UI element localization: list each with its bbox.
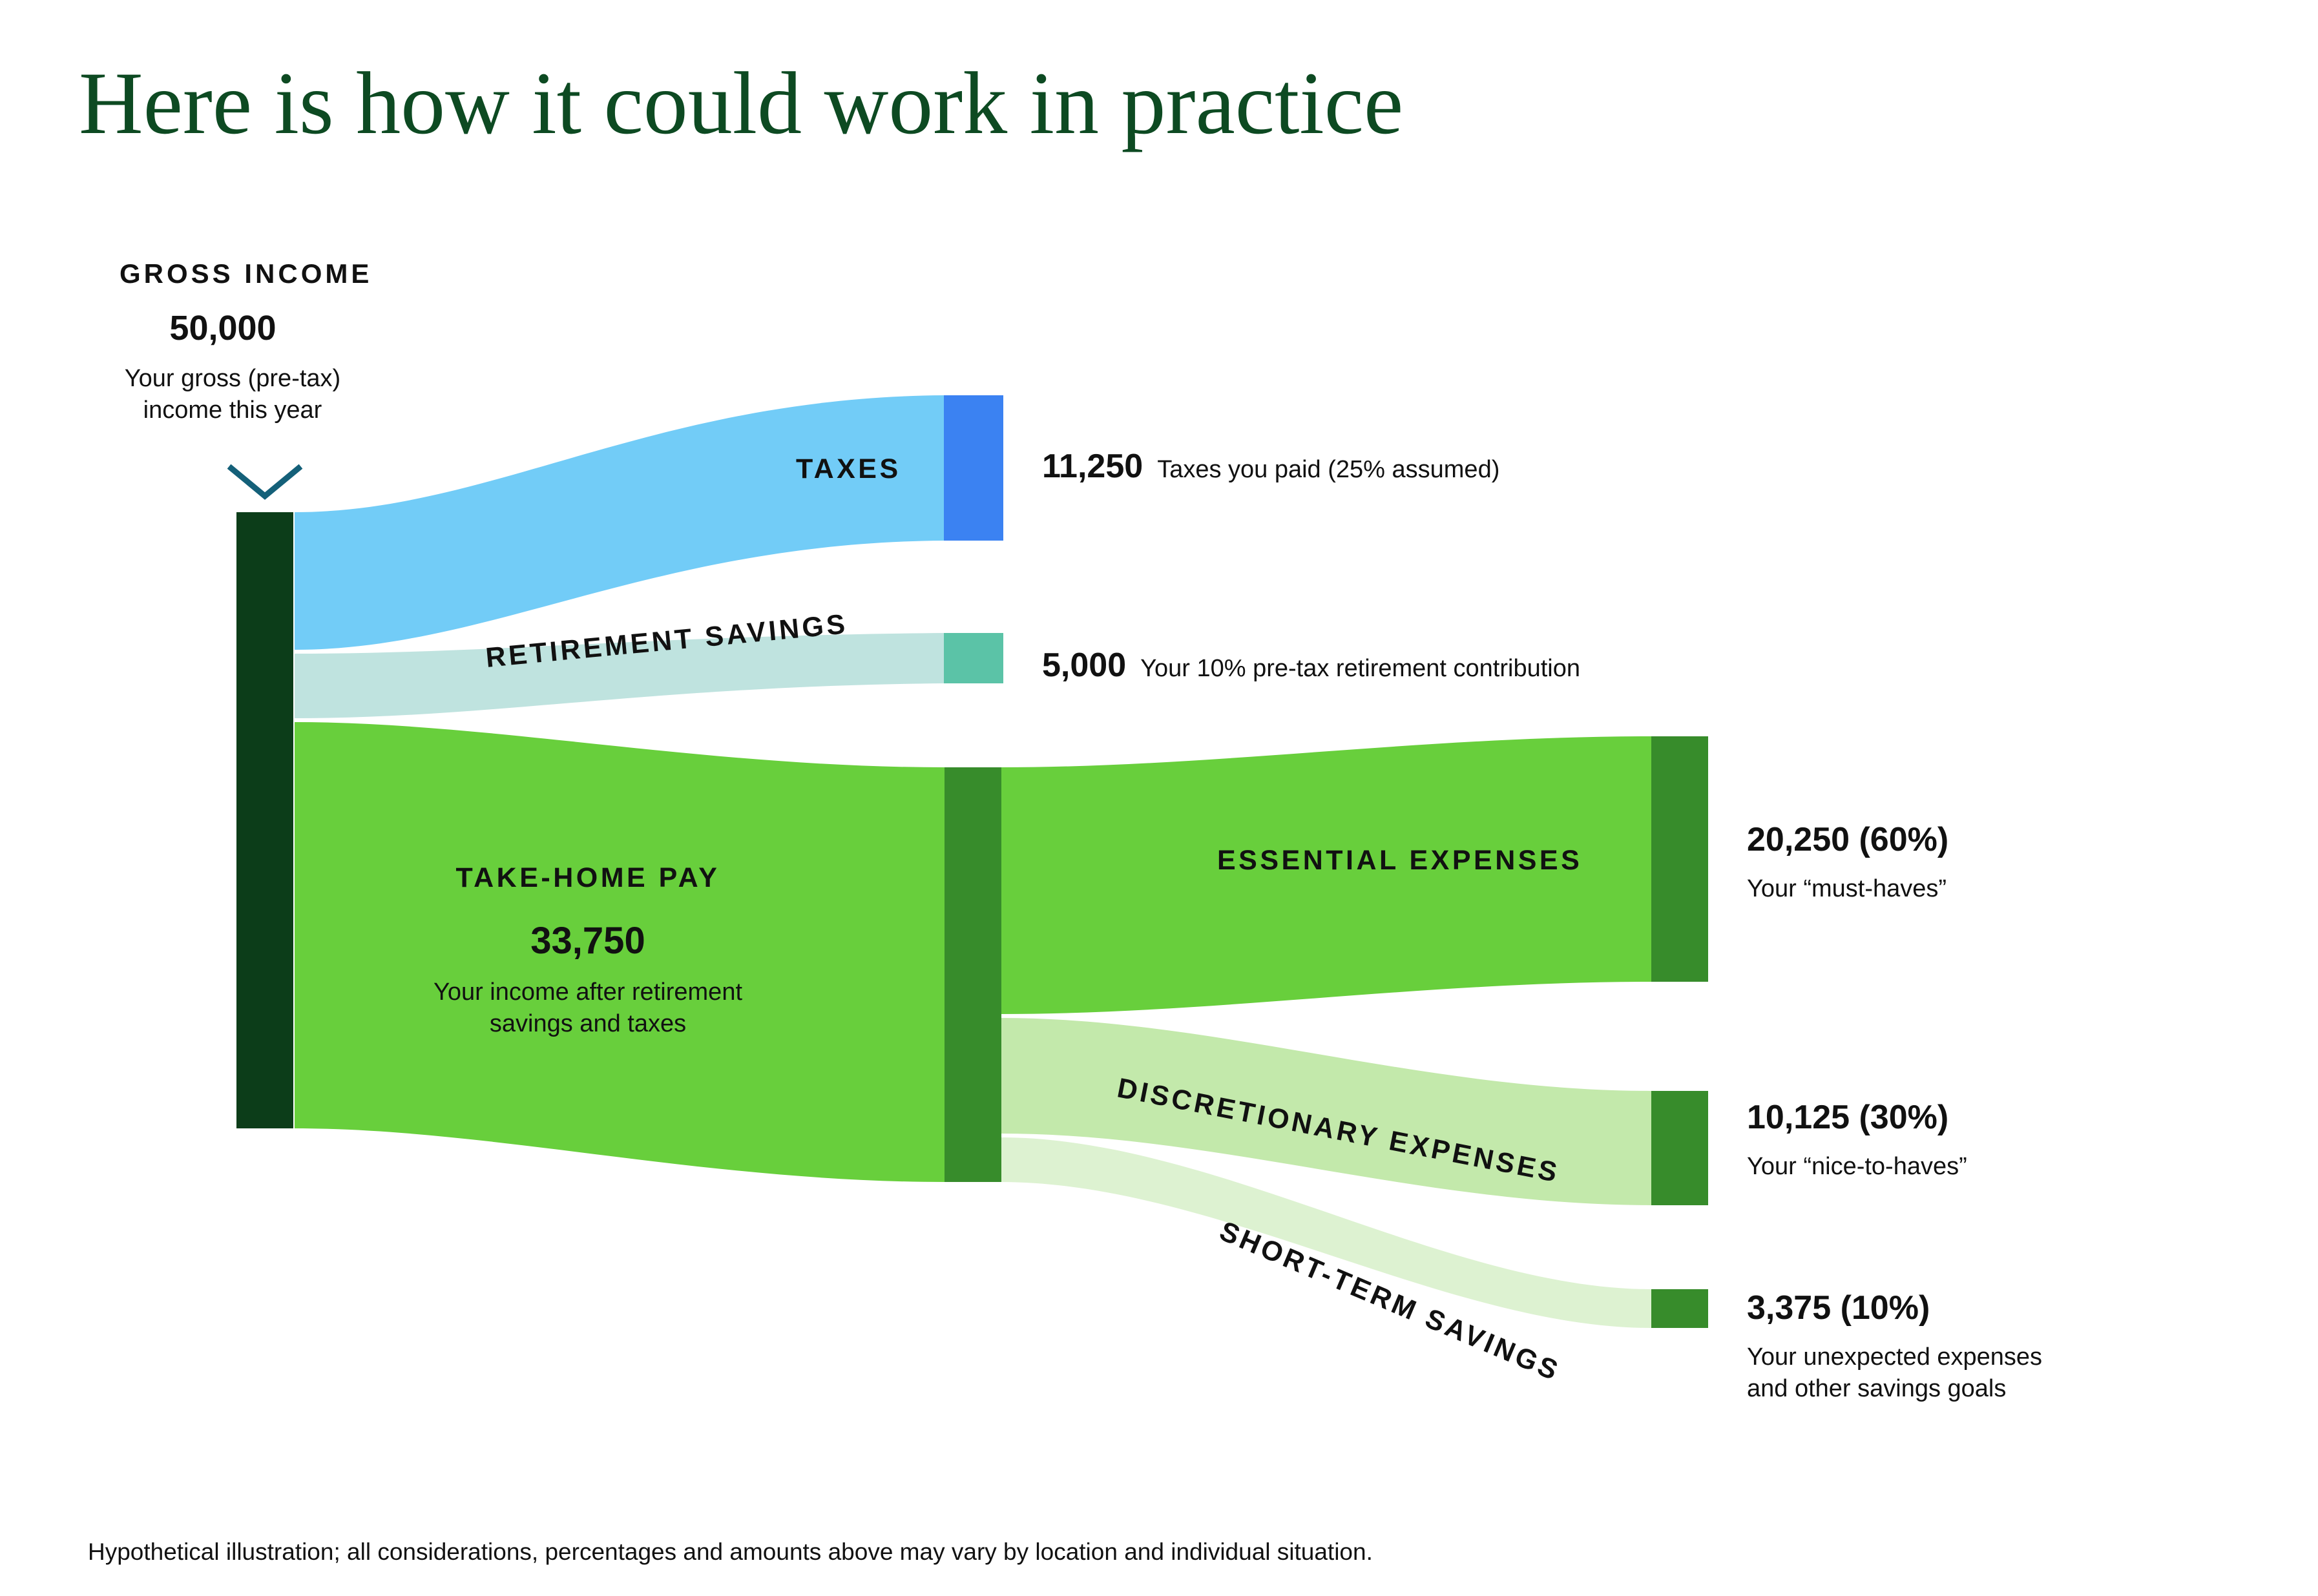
infographic-page: Here is how it could work in practice GR… <box>0 0 2318 1596</box>
flow-label-taxes: TAXES <box>796 453 901 485</box>
essential-expenses-description: Your “must-haves” <box>1747 873 1948 905</box>
gross-income-eyebrow: GROSS INCOME <box>120 258 372 289</box>
node-bar-discretionary-expenses <box>1651 1091 1708 1205</box>
take-home-pay-label: TAKE-HOME PAY <box>329 862 846 894</box>
flow-label-essential-expenses: ESSENTIAL EXPENSES <box>1217 845 1582 876</box>
short-term-savings-description-line2: and other savings goals <box>1747 1373 2042 1405</box>
node-bar-short-term-savings <box>1651 1289 1708 1328</box>
taxes-description: Taxes you paid (25% assumed) <box>1157 454 1499 486</box>
node-bar-gross-income <box>236 512 293 1128</box>
gross-income-amount: 50,000 <box>120 308 326 348</box>
retirement-savings-amount: 5,000 <box>1042 646 1126 685</box>
footer-disclaimer: Hypothetical illustration; all considera… <box>88 1539 1373 1566</box>
take-home-pay-description-line1: Your income after retirement <box>329 977 846 1008</box>
gross-income-description-line2: income this year <box>97 395 368 426</box>
taxes-amount: 11,250 <box>1042 447 1143 486</box>
take-home-pay-amount: 33,750 <box>329 919 846 962</box>
essential-expenses-amount: 20,250 (60%) <box>1747 820 1948 859</box>
retirement-savings-readout: 5,000 Your 10% pre-tax retirement contri… <box>1042 646 1580 685</box>
node-bar-take-home-pay <box>945 767 1001 1182</box>
take-home-pay-description-line2: savings and taxes <box>329 1008 846 1040</box>
discretionary-expenses-description: Your “nice-to-haves” <box>1747 1151 1967 1183</box>
short-term-savings-description-line1: Your unexpected expenses <box>1747 1342 2042 1373</box>
node-bar-taxes <box>944 395 1003 541</box>
take-home-pay-description: Your income after retirement savings and… <box>329 977 846 1039</box>
node-bar-essential-expenses <box>1651 736 1708 982</box>
chevron-down-icon <box>231 468 298 496</box>
gross-income-description: Your gross (pre-tax) income this year <box>97 363 368 426</box>
retirement-savings-description: Your 10% pre-tax retirement contribution <box>1140 653 1580 685</box>
short-term-savings-amount: 3,375 (10%) <box>1747 1289 2042 1327</box>
taxes-readout: 11,250 Taxes you paid (25% assumed) <box>1042 447 1499 486</box>
short-term-savings-description: Your unexpected expenses and other savin… <box>1747 1342 2042 1404</box>
node-bar-retirement-savings <box>944 633 1003 683</box>
gross-income-description-line1: Your gross (pre-tax) <box>97 363 368 395</box>
discretionary-expenses-amount: 10,125 (30%) <box>1747 1098 1967 1137</box>
